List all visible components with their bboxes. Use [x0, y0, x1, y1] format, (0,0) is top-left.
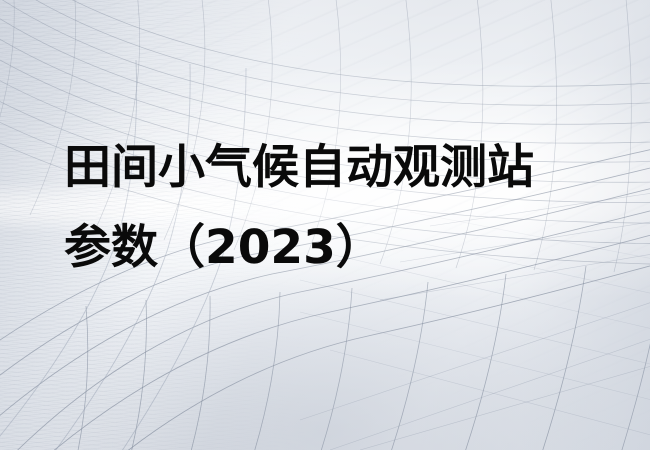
page-title-line-1: 田间小气候自动观测站 — [64, 128, 624, 208]
page-title: 田间小气候自动观测站 参数（2023） — [64, 128, 624, 288]
page-title-line-2: 参数（2023） — [64, 208, 624, 288]
title-banner: 田间小气候自动观测站 参数（2023） — [0, 0, 650, 450]
